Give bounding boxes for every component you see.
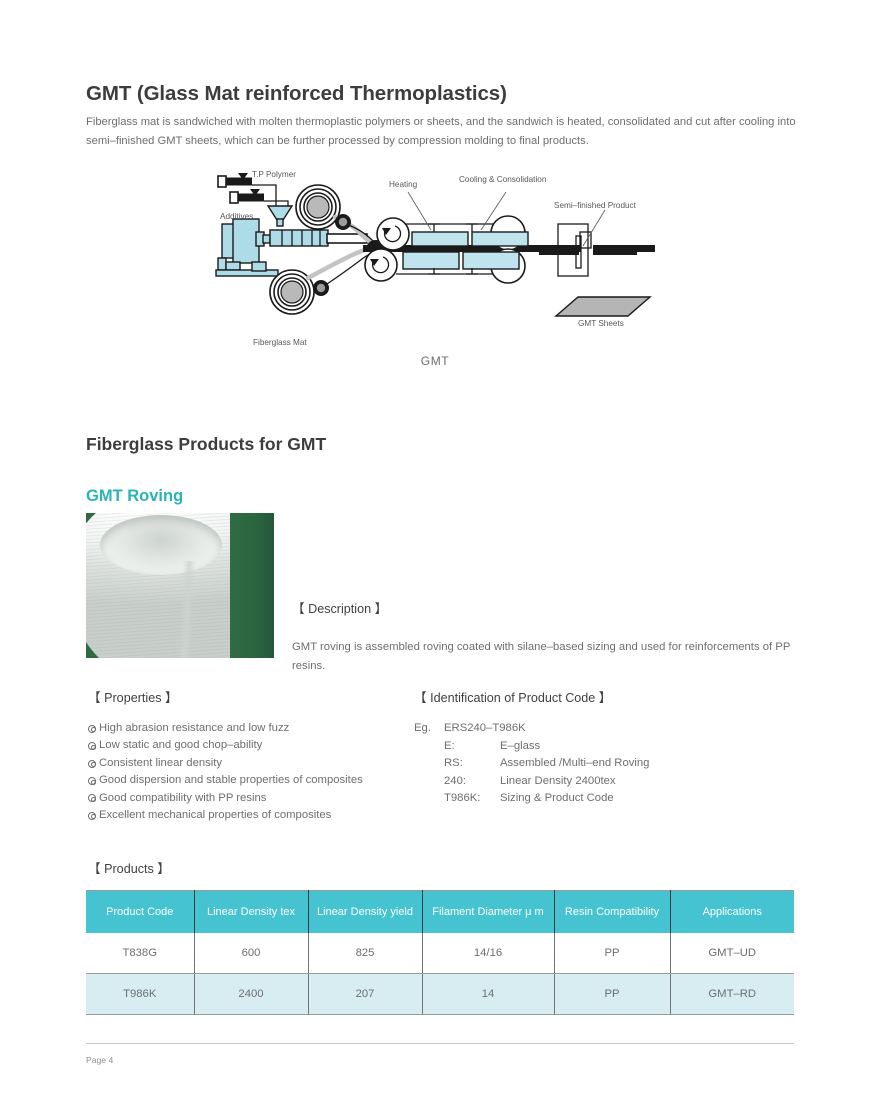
description-body: GMT roving is assembled roving coated wi… [292,638,798,676]
identification-example-code: ERS240–T986K [444,720,526,738]
cell-filament-diameter: 14/16 [422,933,554,974]
list-item: Good compatibility with PP resins [88,790,408,807]
property-text: High abrasion resistance and low fuzz [99,720,289,737]
identification-value: Sizing & Product Code [500,790,614,808]
double-circle-bullet-icon [88,812,96,820]
roving-product-photo [86,513,274,658]
cell-filament-diameter: 14 [422,974,554,1015]
description-label: 【 Description 】 [292,598,387,617]
identification-row: T986K: Sizing & Product Code [414,790,649,808]
indent-spacer [414,790,444,808]
identification-label: 【 Identification of Product Code 】 [414,687,611,706]
property-text: Good compatibility with PP resins [99,790,266,807]
document-page: GMT (Glass Mat reinforced Thermoplastics… [0,0,870,1120]
property-text: Good dispersion and stable properties of… [99,772,363,789]
double-circle-bullet-icon [88,725,96,733]
identification-block: Eg. ERS240–T986K E: E–glass RS: Assemble… [414,720,649,808]
list-item: Low static and good chop–ability [88,737,408,754]
double-circle-bullet-icon [88,794,96,802]
indent-spacer [414,755,444,773]
list-item: Consistent linear density [88,755,408,772]
indent-spacer [414,773,444,791]
page-number: Page 4 [86,1055,113,1065]
products-table: Product Code Linear Density tex Linear D… [86,890,794,1015]
products-label: 【 Products 】 [88,858,170,877]
double-circle-bullet-icon [88,760,96,768]
property-text: Low static and good chop–ability [99,737,262,754]
column-header-product-code: Product Code [86,891,194,933]
list-item: Excellent mechanical properties of compo… [88,807,408,824]
column-header-linear-density-yield: Linear Density yield [308,891,422,933]
gmt-process-diagram: .mblue { fill:#aedbe8; stroke:#1a1a1a; s… [200,162,670,377]
cell-resin-compatibility: PP [554,933,670,974]
identification-key: RS: [444,755,500,773]
cell-resin-compatibility: PP [554,974,670,1015]
indent-spacer [414,738,444,756]
list-item: Good dispersion and stable properties of… [88,772,408,789]
double-circle-bullet-icon [88,742,96,750]
roving-spool-core [100,515,222,575]
property-text: Consistent linear density [99,755,222,772]
footer-divider [86,1043,794,1044]
property-text: Excellent mechanical properties of compo… [99,807,331,824]
product-heading: GMT Roving [86,487,183,506]
diagram-caption: GMT [200,354,670,368]
diagram-label-semi-finished: Semi–finished Product [554,201,636,210]
cell-linear-density-yield: 207 [308,974,422,1015]
cell-product-code: T838G [86,933,194,974]
diagram-label-fiberglass-mat: Fiberglass Mat [253,338,307,347]
identification-row: 240: Linear Density 2400tex [414,773,649,791]
photo-background [230,513,274,658]
cell-applications: GMT–UD [670,933,794,974]
identification-value: Linear Density 2400tex [500,773,616,791]
double-circle-bullet-icon [88,777,96,785]
cell-linear-density-yield: 825 [308,933,422,974]
identification-eg-prefix: Eg. [414,720,444,738]
identification-key: 240: [444,773,500,791]
identification-key: E: [444,738,500,756]
list-item: High abrasion resistance and low fuzz [88,720,408,737]
column-header-linear-density-tex: Linear Density tex [194,891,308,933]
mat-spool-top [296,185,340,229]
identification-row: RS: Assembled /Multi–end Roving [414,755,649,773]
table-header-row: Product Code Linear Density tex Linear D… [86,891,794,933]
diagram-label-gmt-sheets: GMT Sheets [578,319,624,328]
column-header-resin-compatibility: Resin Compatibility [554,891,670,933]
cell-applications: GMT–RD [670,974,794,1015]
diagram-label-tp-polymer: T.P Polymer [252,170,296,179]
identification-value: E–glass [500,738,540,756]
identification-example-row: Eg. ERS240–T986K [414,720,649,738]
diagram-label-heating: Heating [389,180,417,189]
cell-linear-density-tex: 2400 [194,974,308,1015]
intro-paragraph: Fiberglass mat is sandwiched with molten… [86,113,798,150]
table-row: T986K 2400 207 14 PP GMT–RD [86,974,794,1015]
diagram-label-additives: Additives [220,212,253,221]
properties-list: High abrasion resistance and low fuzz Lo… [88,720,408,824]
diagram-label-cooling: Cooling & Consolidation [459,175,546,184]
properties-label: 【 Properties 】 [88,687,178,706]
column-header-filament-diameter: Filament Diameter μ m [422,891,554,933]
page-title: GMT (Glass Mat reinforced Thermoplastics… [86,82,507,106]
cell-product-code: T986K [86,974,194,1015]
table-row: T838G 600 825 14/16 PP GMT–UD [86,933,794,974]
section-heading: Fiberglass Products for GMT [86,434,326,455]
cell-linear-density-tex: 600 [194,933,308,974]
column-header-applications: Applications [670,891,794,933]
identification-row: E: E–glass [414,738,649,756]
identification-key: T986K: [444,790,500,808]
identification-value: Assembled /Multi–end Roving [500,755,649,773]
